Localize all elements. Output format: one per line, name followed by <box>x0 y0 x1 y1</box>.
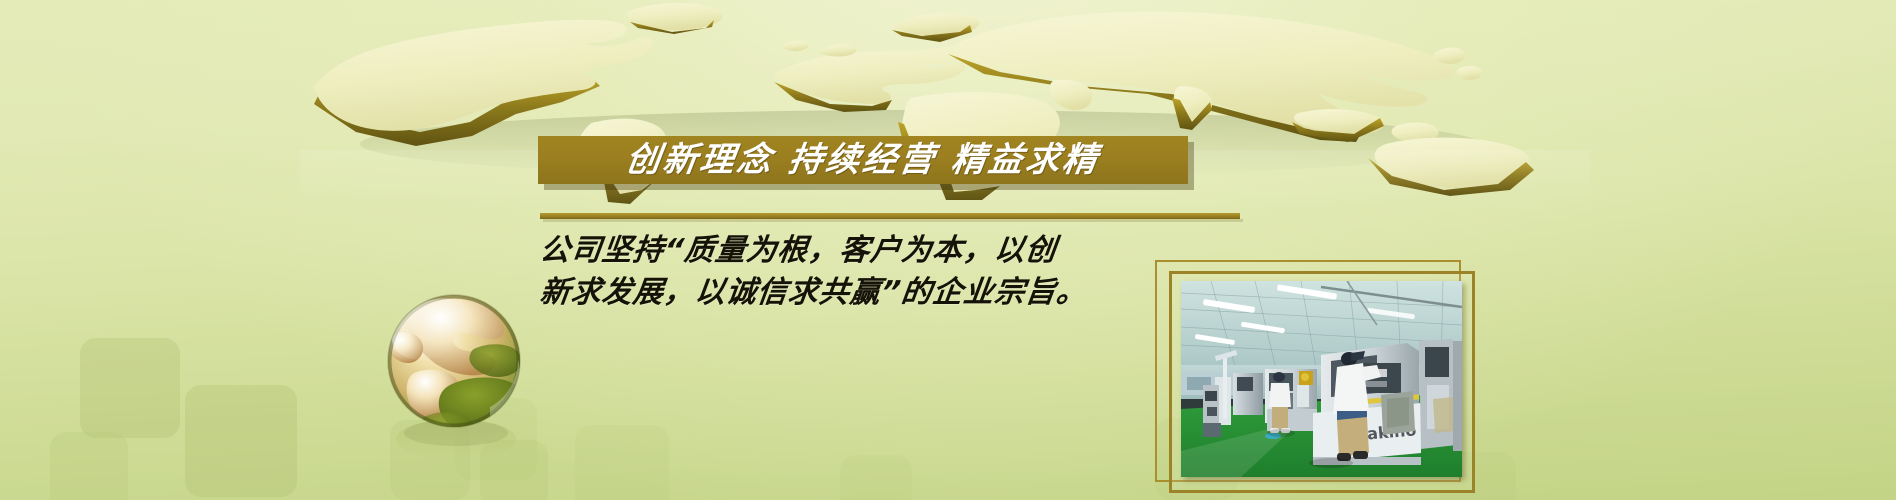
headline-band: 创新理念 持续经营 精益求精 <box>538 136 1188 184</box>
subtitle-line-2: 新求发展，以诚信求共赢”的企业宗旨。 <box>537 272 1172 314</box>
watermark-square <box>80 338 180 438</box>
headline-underline <box>540 213 1240 219</box>
subtitle-line-1: 公司坚持“质量为根，客户为本，以创 <box>537 230 1172 272</box>
watermark-square <box>185 385 297 497</box>
globe-graphic <box>378 289 558 474</box>
company-banner: 创新理念 持续经营 精益求精 公司坚持“质量为根，客户为本，以创 新求发展，以诚… <box>0 0 1896 500</box>
watermark-square <box>575 425 669 500</box>
factory-photo: makino <box>1181 281 1462 477</box>
subtitle-block: 公司坚持“质量为根，客户为本，以创 新求发展，以诚信求共赢”的企业宗旨。 <box>540 230 1170 314</box>
headline-text: 创新理念 持续经营 精益求精 <box>624 143 1102 177</box>
watermark-square <box>840 455 912 500</box>
watermark-square <box>50 432 128 500</box>
